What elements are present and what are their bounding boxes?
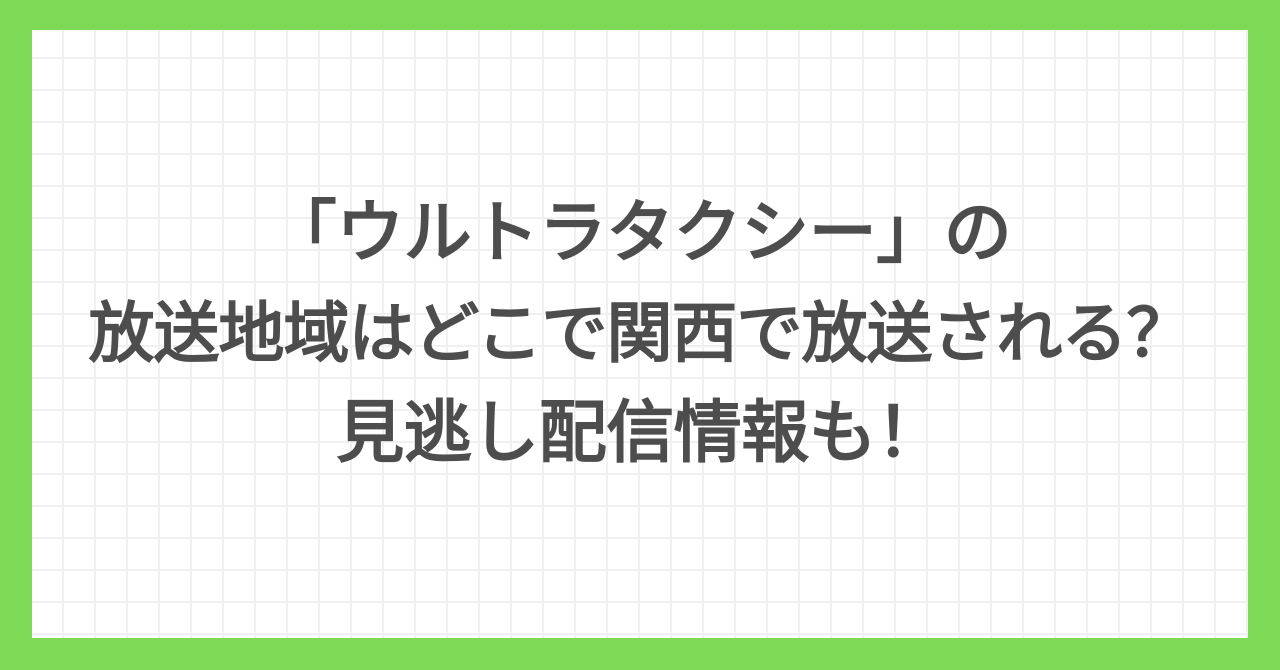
headline-line-2: 放送地域はどこで関西で放送される？: [44, 284, 1236, 384]
headline-line-1: 「ウルトラタクシー」の: [44, 184, 1236, 284]
headline-line-3: 見逃し配信情報も！: [44, 384, 1236, 484]
grid-paper-panel: 「ウルトラタクシー」の 放送地域はどこで関西で放送される？ 見逃し配信情報も！: [32, 30, 1248, 638]
thumbnail-canvas: 「ウルトラタクシー」の 放送地域はどこで関西で放送される？ 見逃し配信情報も！: [0, 0, 1280, 670]
headline-block: 「ウルトラタクシー」の 放送地域はどこで関西で放送される？ 見逃し配信情報も！: [32, 184, 1248, 484]
